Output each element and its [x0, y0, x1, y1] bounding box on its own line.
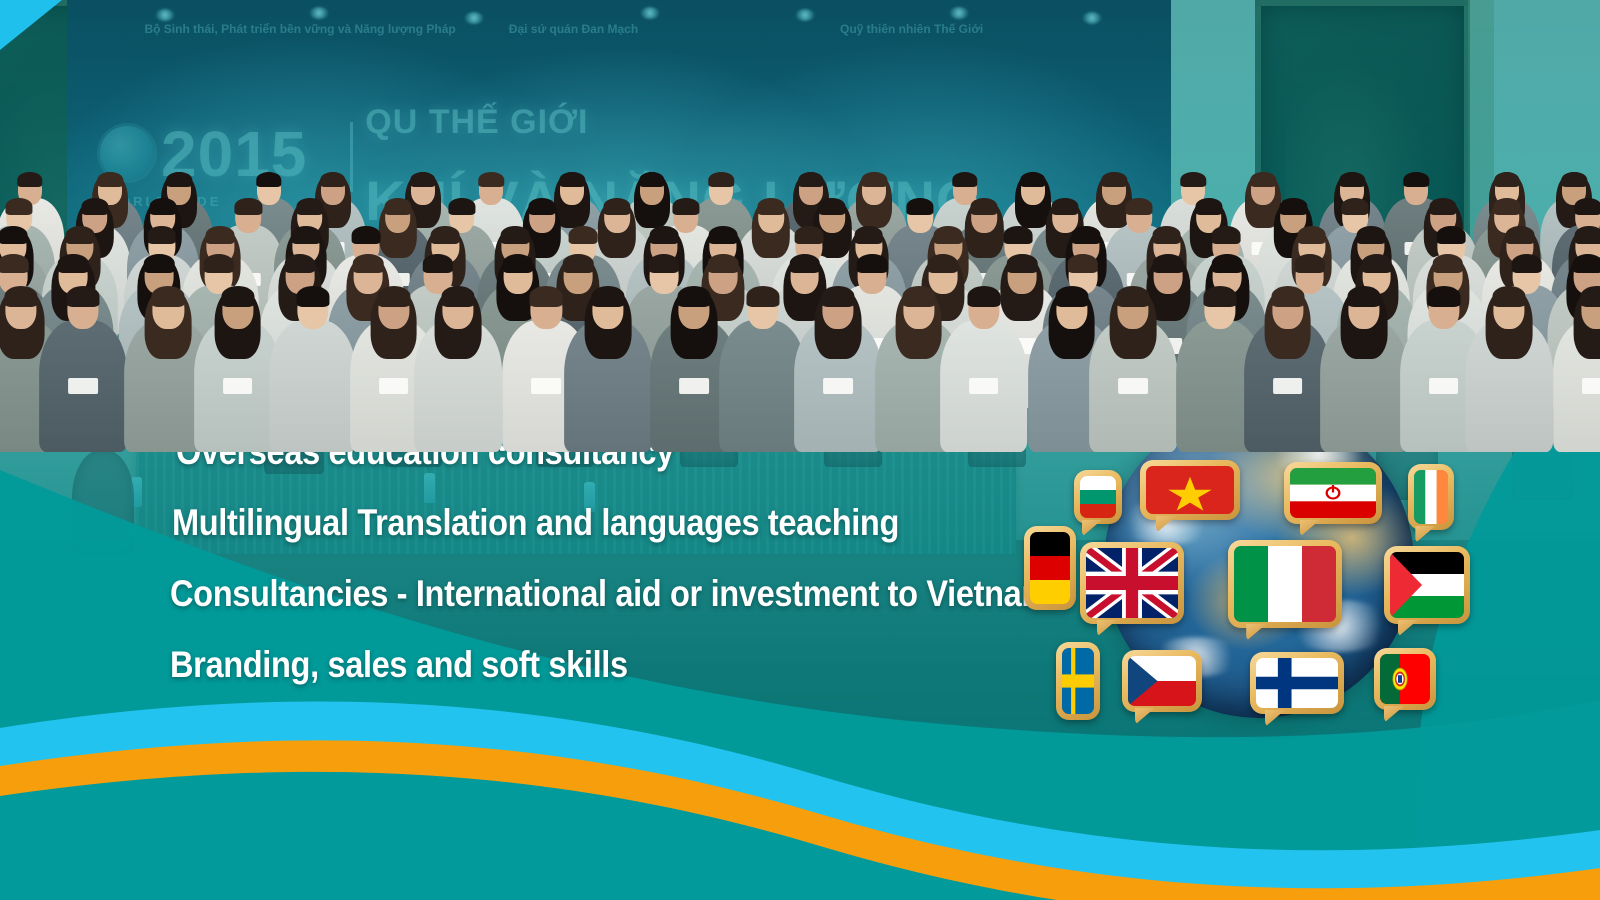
flag-ps-icon [1390, 552, 1464, 618]
services-list: Overseas education consultancy Multiling… [170, 432, 1050, 685]
attendee [1244, 284, 1332, 456]
flag-bubble-iran [1284, 462, 1382, 524]
flag-bubble-vietnam [1140, 460, 1240, 520]
flag-gb-icon [1086, 548, 1178, 618]
flag-bubble-czech-republic [1122, 650, 1202, 712]
flag-fi-icon [1256, 658, 1338, 708]
service-item-2: Multilingual Translation and languages t… [172, 503, 945, 543]
flag-bubble-finland [1250, 652, 1344, 714]
flag-cz-icon [1128, 656, 1196, 706]
banner-canvas: Bộ Sinh thái, Phát triển bền vững và Năn… [0, 0, 1600, 900]
attendee [1465, 284, 1553, 456]
flag-bubble-sweden [1056, 642, 1100, 720]
flag-de-icon [1030, 532, 1070, 604]
attendee [1089, 284, 1177, 456]
attendee [719, 284, 807, 456]
attendee [564, 284, 652, 456]
flag-bubble-palestine [1384, 546, 1470, 624]
attendee [940, 284, 1028, 456]
flag-bubble-ireland [1408, 464, 1454, 530]
attendee [414, 284, 502, 456]
flag-it-icon [1234, 546, 1336, 622]
flag-pt-icon [1380, 654, 1430, 704]
attendee [1320, 284, 1408, 456]
attendee [39, 284, 127, 456]
flag-vn-icon [1146, 466, 1234, 514]
attendee [269, 284, 357, 456]
service-item-3: Consultancies - International aid or inv… [170, 574, 944, 614]
flag-bubble-italy [1228, 540, 1342, 628]
flag-bubble-germany [1024, 526, 1076, 610]
flag-ie-icon [1414, 470, 1448, 524]
attendee [1553, 284, 1600, 456]
flag-bubble-bulgaria [1074, 470, 1122, 524]
attendee [794, 284, 882, 456]
flag-bg-icon [1080, 476, 1116, 518]
flag-se-icon [1062, 648, 1094, 714]
bottom-wave-decoration [0, 680, 1600, 900]
flag-ir-icon [1290, 468, 1376, 518]
flag-bubble-united-kingdom [1080, 542, 1184, 624]
flag-bubble-portugal [1374, 648, 1436, 710]
service-item-4: Branding, sales and soft skills [170, 645, 944, 685]
